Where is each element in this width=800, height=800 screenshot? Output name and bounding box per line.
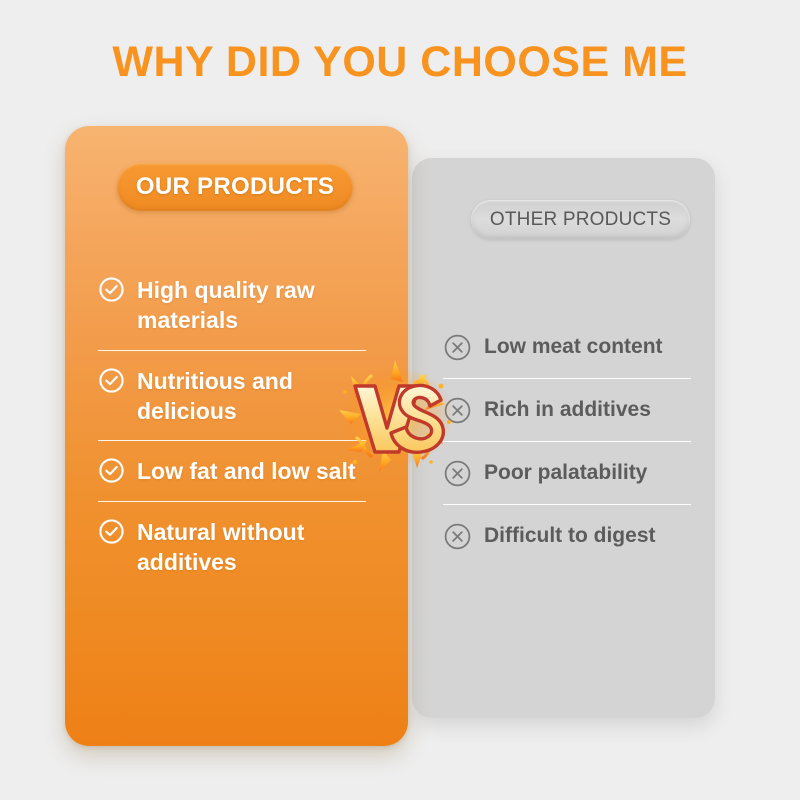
list-divider — [443, 378, 691, 379]
list-divider — [98, 350, 366, 351]
other-products-badge[interactable]: OTHER PRODUCTS — [471, 200, 690, 239]
list-item: Poor palatability — [443, 459, 691, 488]
our-products-badge[interactable]: OUR PRODUCTS — [117, 163, 353, 211]
list-item-label: Rich in additives — [484, 396, 651, 423]
check-circle-icon — [98, 518, 125, 545]
check-circle-icon — [98, 276, 125, 303]
list-item-label: Nutritious and delicious — [137, 366, 366, 427]
list-divider — [98, 501, 366, 502]
x-circle-icon — [443, 522, 472, 551]
list-divider — [443, 441, 691, 442]
list-divider — [98, 440, 366, 441]
other-products-badge-label: OTHER PRODUCTS — [490, 209, 671, 231]
our-products-badge-label: OUR PRODUCTS — [136, 173, 334, 201]
list-item: High quality raw materials — [98, 275, 366, 336]
comparison-area: OUR PRODUCTS OTHER PRODUCTS High quality… — [0, 0, 800, 800]
list-item-label: High quality raw materials — [137, 275, 366, 336]
list-item: Low meat content — [443, 333, 691, 362]
list-item: Natural without additives — [98, 517, 366, 578]
check-circle-icon — [98, 367, 125, 394]
list-item-label: Difficult to digest — [484, 522, 656, 549]
list-item: Difficult to digest — [443, 522, 691, 551]
our-products-list: High quality raw materials Nutritious an… — [98, 275, 366, 578]
list-item: Nutritious and delicious — [98, 366, 366, 427]
x-circle-icon — [443, 333, 472, 362]
x-circle-icon — [443, 396, 472, 425]
list-divider — [443, 504, 691, 505]
check-circle-icon — [98, 457, 125, 484]
list-item: Rich in additives — [443, 396, 691, 425]
other-products-list: Low meat content Rich in additives Poor … — [443, 333, 691, 551]
list-item-label: Natural without additives — [137, 517, 366, 578]
list-item: Low fat and low salt — [98, 456, 366, 486]
list-item-label: Low fat and low salt — [137, 456, 356, 486]
list-item-label: Poor palatability — [484, 459, 647, 486]
list-item-label: Low meat content — [484, 333, 663, 360]
x-circle-icon — [443, 459, 472, 488]
